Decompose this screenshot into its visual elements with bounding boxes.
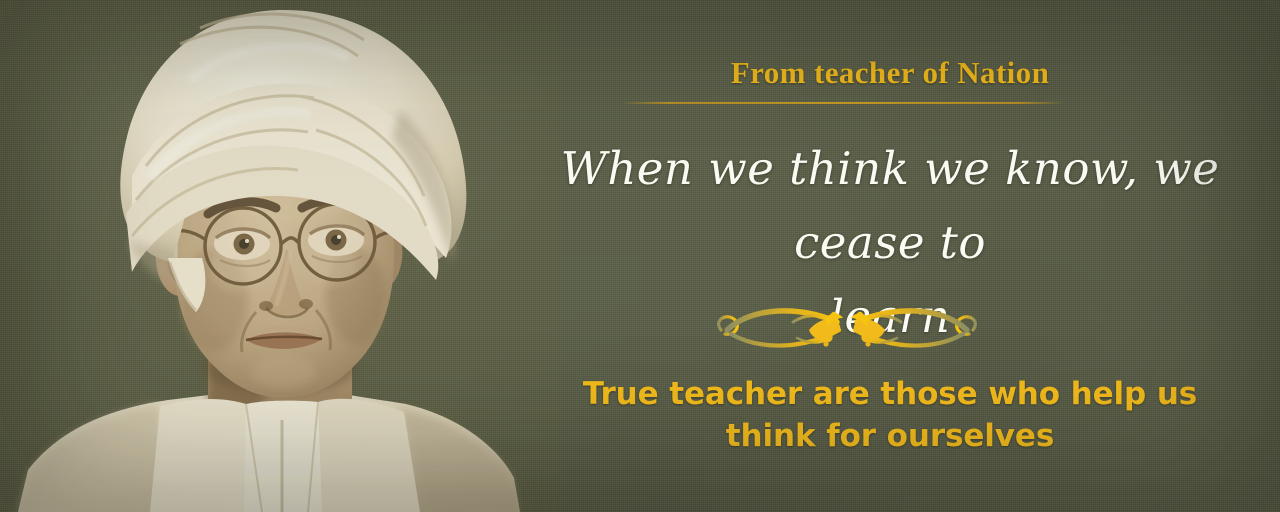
tagline-line-2: think for ourselves [540, 415, 1240, 457]
tagline-text: True teacher are those who help us think… [540, 373, 1240, 457]
portrait-image [0, 0, 560, 512]
quote-banner: From teacher of Nation When we think we … [0, 0, 1280, 512]
heading-underline-rule [623, 102, 1063, 104]
text-column: From teacher of Nation When we think we … [500, 0, 1280, 512]
quote-line-1: When we think we know, we cease to [514, 132, 1266, 280]
eyebrow-heading: From teacher of Nation [500, 57, 1280, 88]
tagline-line-1: True teacher are those who help us [540, 373, 1240, 415]
flourish-divider-ornament [697, 300, 997, 358]
